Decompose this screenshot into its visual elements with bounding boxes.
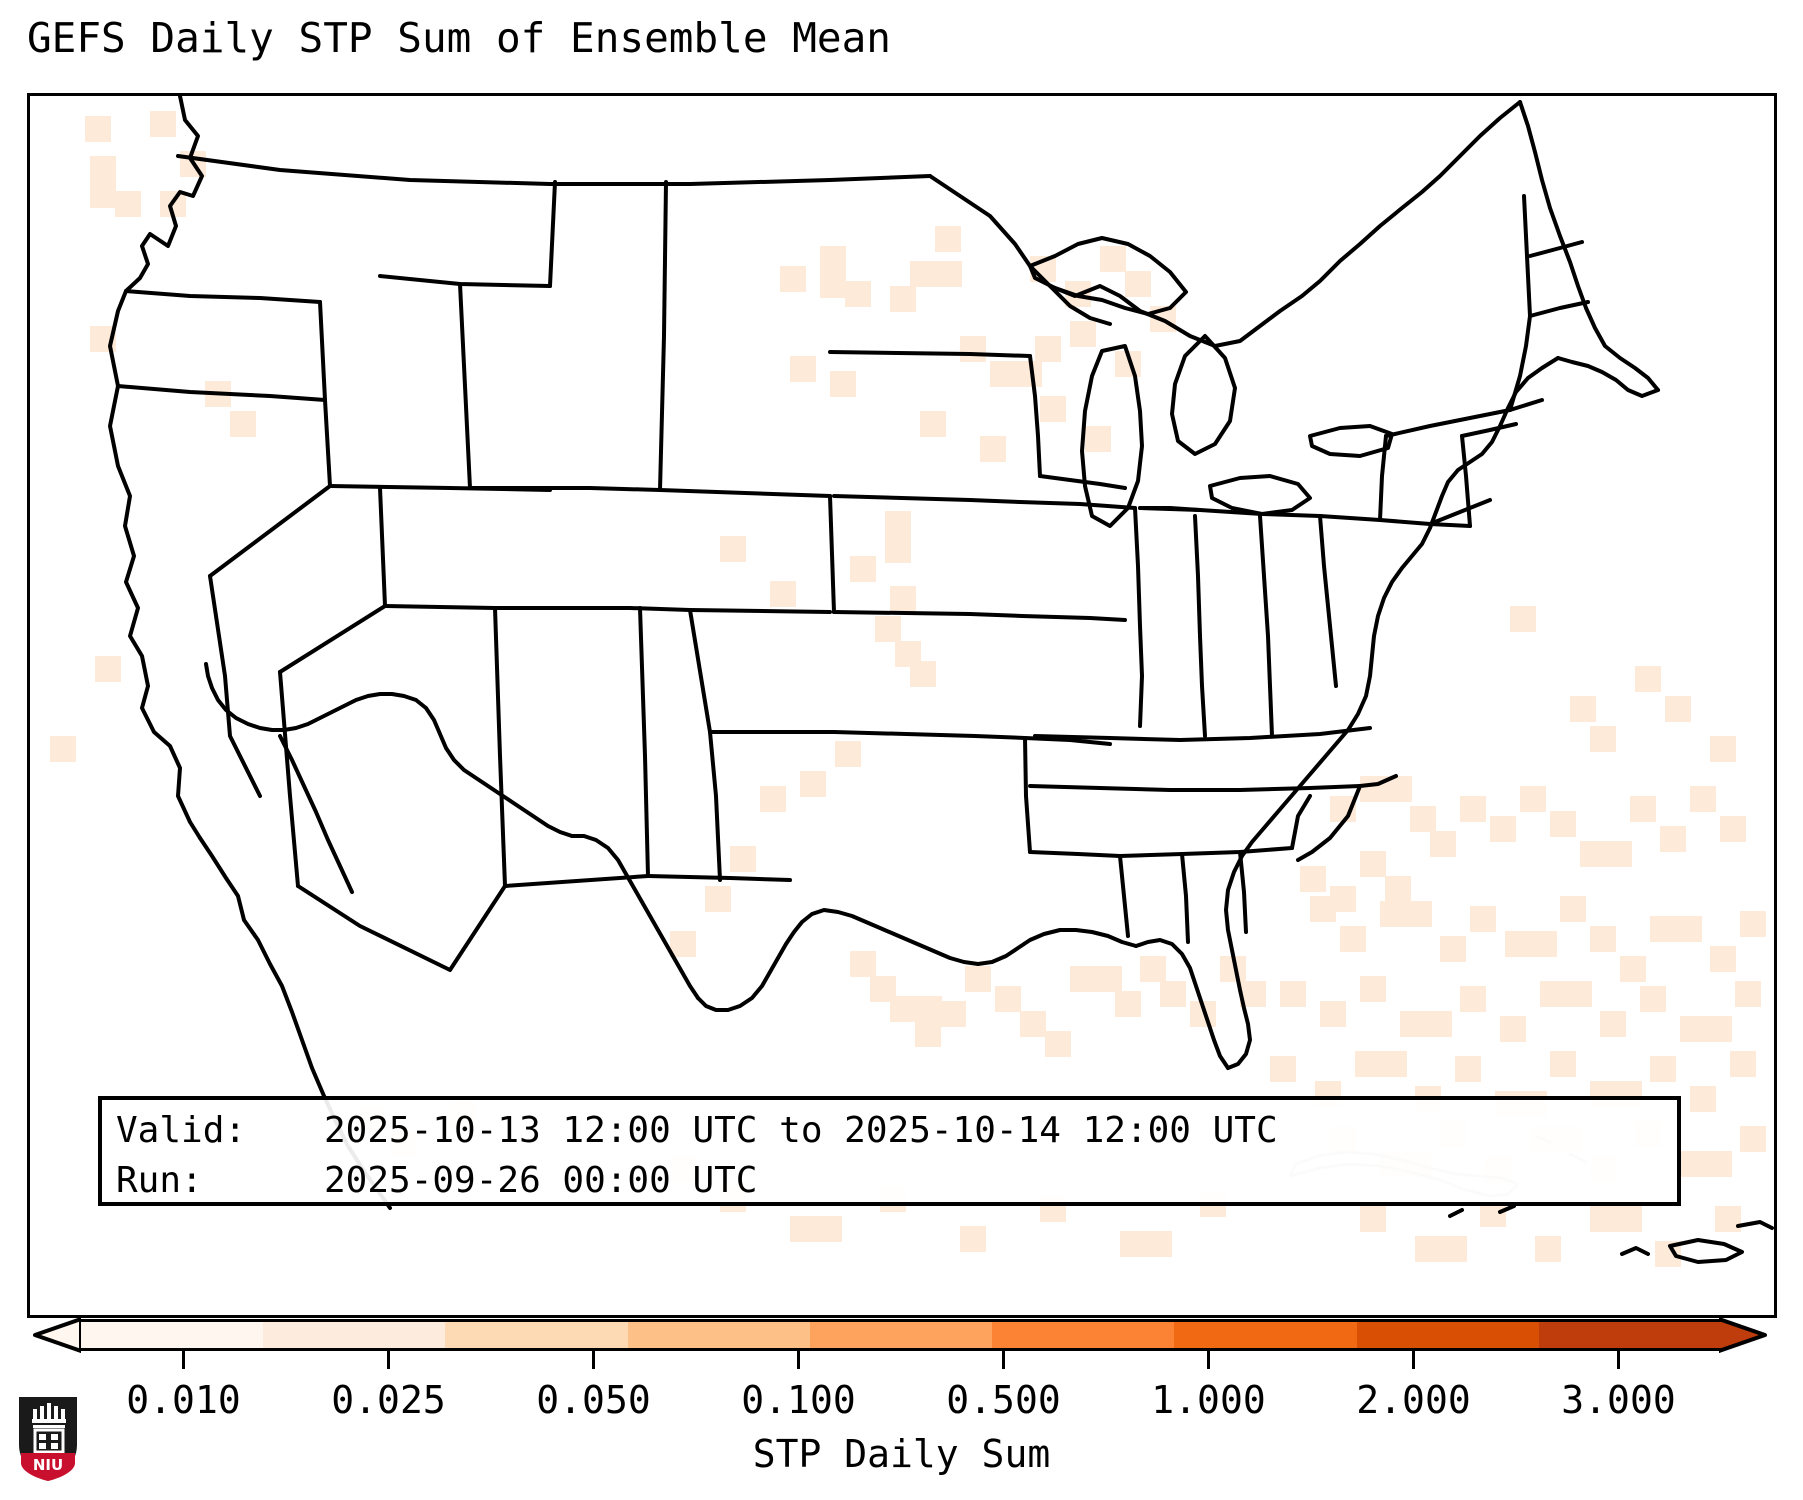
colorbar-extend-right-icon — [1719, 1317, 1767, 1353]
colorbar-tick-6 — [1412, 1351, 1415, 1369]
colorbar-tick-label-0: 0.010 — [126, 1378, 240, 1422]
colorbar-tick-2 — [592, 1351, 595, 1369]
page-title: GEFS Daily STP Sum of Ensemble Mean — [27, 14, 891, 62]
forecast-info-box: Valid: 2025-10-13 12:00 UTC to 2025-10-1… — [98, 1096, 1681, 1206]
colorbar-band-2 — [445, 1322, 627, 1348]
niu-logo: NIU — [17, 1393, 79, 1483]
colorbar-tick-label-3: 0.100 — [741, 1378, 855, 1422]
colorbar-band-0 — [81, 1322, 263, 1348]
colorbar-tick-label-5: 1.000 — [1151, 1378, 1265, 1422]
colorbar-tick-4 — [1002, 1351, 1005, 1369]
colorbar-extend-left-icon — [33, 1317, 81, 1353]
colorbar-band-7 — [1357, 1322, 1539, 1348]
colorbar-band-5 — [992, 1322, 1174, 1348]
colorbar-tick-7 — [1617, 1351, 1620, 1369]
colorbar[interactable] — [0, 1319, 1803, 1369]
valid-time-row: Valid: 2025-10-13 12:00 UTC to 2025-10-1… — [116, 1106, 1663, 1156]
niu-banner-text: NIU — [33, 1456, 63, 1474]
run-value: 2025-09-26 00:00 UTC — [324, 1156, 757, 1206]
colorbar-tick-1 — [387, 1351, 390, 1369]
colorbar-tick-5 — [1207, 1351, 1210, 1369]
colorbar-tick-3 — [797, 1351, 800, 1369]
colorbar-band-3 — [628, 1322, 810, 1348]
colorbar-tick-0 — [182, 1351, 185, 1369]
colorbar-gradient[interactable] — [81, 1319, 1721, 1351]
colorbar-band-4 — [810, 1322, 992, 1348]
colorbar-tick-label-2: 0.050 — [536, 1378, 650, 1422]
colorbar-tick-label-1: 0.025 — [331, 1378, 445, 1422]
colorbar-band-1 — [263, 1322, 445, 1348]
colorbar-band-6 — [1174, 1322, 1356, 1348]
valid-value: 2025-10-13 12:00 UTC to 2025-10-14 12:00… — [324, 1106, 1278, 1156]
colorbar-tick-label-6: 2.000 — [1356, 1378, 1470, 1422]
map-canvas[interactable]: Valid: 2025-10-13 12:00 UTC to 2025-10-1… — [27, 93, 1777, 1318]
colorbar-tick-label-4: 0.500 — [946, 1378, 1060, 1422]
valid-label: Valid: — [116, 1106, 324, 1156]
run-time-row: Run: 2025-09-26 00:00 UTC — [116, 1156, 1663, 1206]
colorbar-tick-label-7: 3.000 — [1561, 1378, 1675, 1422]
run-label: Run: — [116, 1156, 324, 1206]
colorbar-axis-label: STP Daily Sum — [0, 1432, 1803, 1476]
colorbar-band-8 — [1539, 1322, 1721, 1348]
